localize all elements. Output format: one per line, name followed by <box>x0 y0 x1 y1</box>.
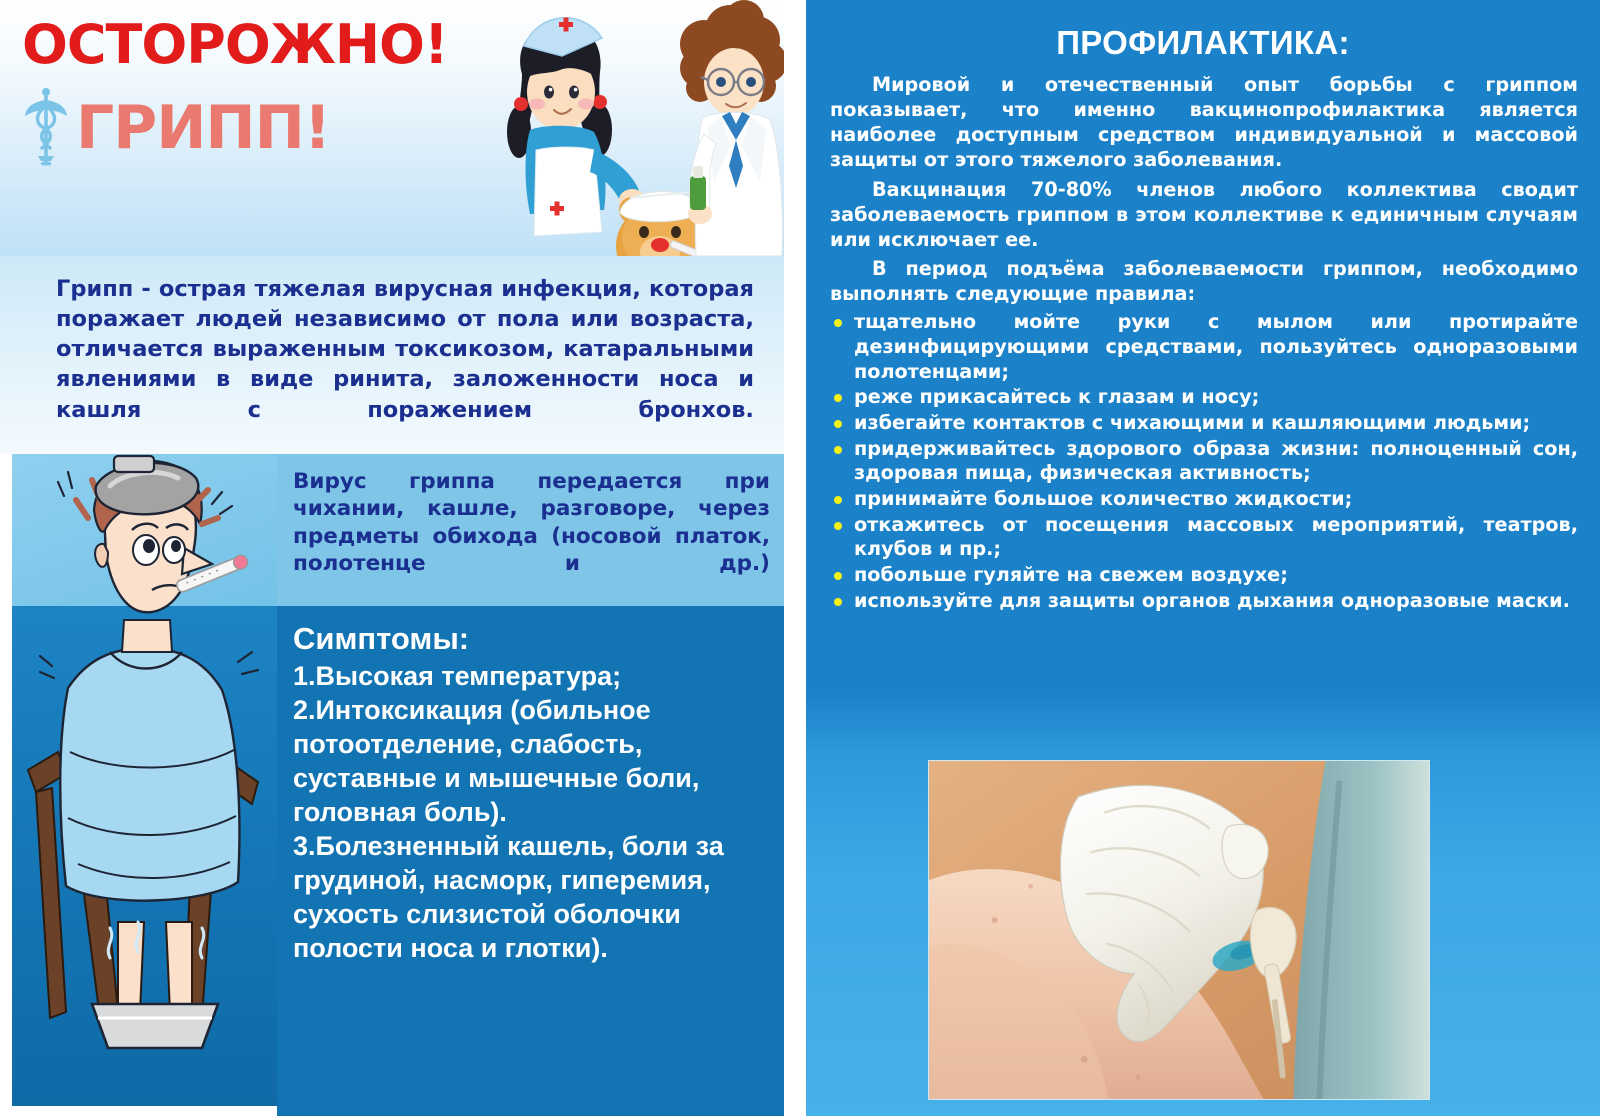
rule-item-1: тщательно мойте руки с мылом или протира… <box>830 310 1578 384</box>
flu-title: ГРИПП! <box>76 98 330 158</box>
sick-man-with-icepack-illustration <box>6 452 286 1052</box>
symptom-item-1: 1.Высокая температура; <box>293 659 774 693</box>
symptoms-list: 1.Высокая температура; 2.Интоксикация (о… <box>293 659 774 965</box>
rule-item-3: избегайте контактов с чихающими и кашляю… <box>830 411 1578 436</box>
rule-item-4: придерживайтесь здорового образа жизни: … <box>830 437 1578 486</box>
prevention-paragraph-3: В период подъёма заболеваемости гриппом,… <box>830 256 1578 306</box>
rule-item-7: побольше гуляйте на свежем воздухе; <box>830 563 1578 588</box>
brochure-page: ОСТОРОЖНО! ГРИПП! <box>0 0 1600 1116</box>
hero-banner: ОСТОРОЖНО! ГРИПП! <box>0 0 784 256</box>
rule-item-2: реже прикасайтесь к глазам и носу; <box>830 385 1578 410</box>
warning-title: ОСТОРОЖНО! <box>22 18 442 72</box>
transmission-text-block: Вирус гриппа передается при чихании, каш… <box>277 454 784 606</box>
prevention-paragraph-1: Мировой и отечественный опыт борьбы с гр… <box>830 72 1578 173</box>
rule-item-5: принимайте большое количество жидкости; <box>830 487 1578 512</box>
prevention-body: Мировой и отечественный опыт борьбы с гр… <box>806 72 1600 613</box>
nurse-doctor-teddybear-illustration <box>404 0 784 256</box>
intro-paragraph: Грипп - острая тяжелая вирусная инфекция… <box>56 274 754 425</box>
symptoms-block: Симптомы: 1.Высокая температура; 2.Инток… <box>277 606 784 1116</box>
left-panel: ОСТОРОЖНО! ГРИПП! <box>0 0 784 1116</box>
flu-title-row: ГРИПП! <box>22 86 442 170</box>
rule-item-6: откажитесь от посещения массовых меропри… <box>830 513 1578 562</box>
prevention-title: ПРОФИЛАКТИКА: <box>806 24 1600 62</box>
prevention-paragraph-2: Вакцинация 70-80% членов любого коллекти… <box>830 177 1578 252</box>
symptoms-heading: Симптомы: <box>293 620 774 657</box>
symptom-item-3: 3.Болезненный кашель, боли за грудиной, … <box>293 829 774 965</box>
vaccination-photo <box>928 760 1430 1100</box>
hero-title-group: ОСТОРОЖНО! ГРИПП! <box>22 18 442 170</box>
right-panel: ПРОФИЛАКТИКА: Мировой и отечественный оп… <box>806 0 1600 1116</box>
symptom-item-2: 2.Интоксикация (обильное потоотделение, … <box>293 693 774 829</box>
intro-text-block: Грипп - острая тяжелая вирусная инфекция… <box>0 256 784 454</box>
rule-item-8: используйте для защиты органов дыхания о… <box>830 589 1578 614</box>
transmission-paragraph: Вирус гриппа передается при чихании, каш… <box>293 468 770 577</box>
caduceus-icon <box>22 86 70 170</box>
prevention-rules-list: тщательно мойте руки с мылом или протира… <box>830 310 1578 613</box>
